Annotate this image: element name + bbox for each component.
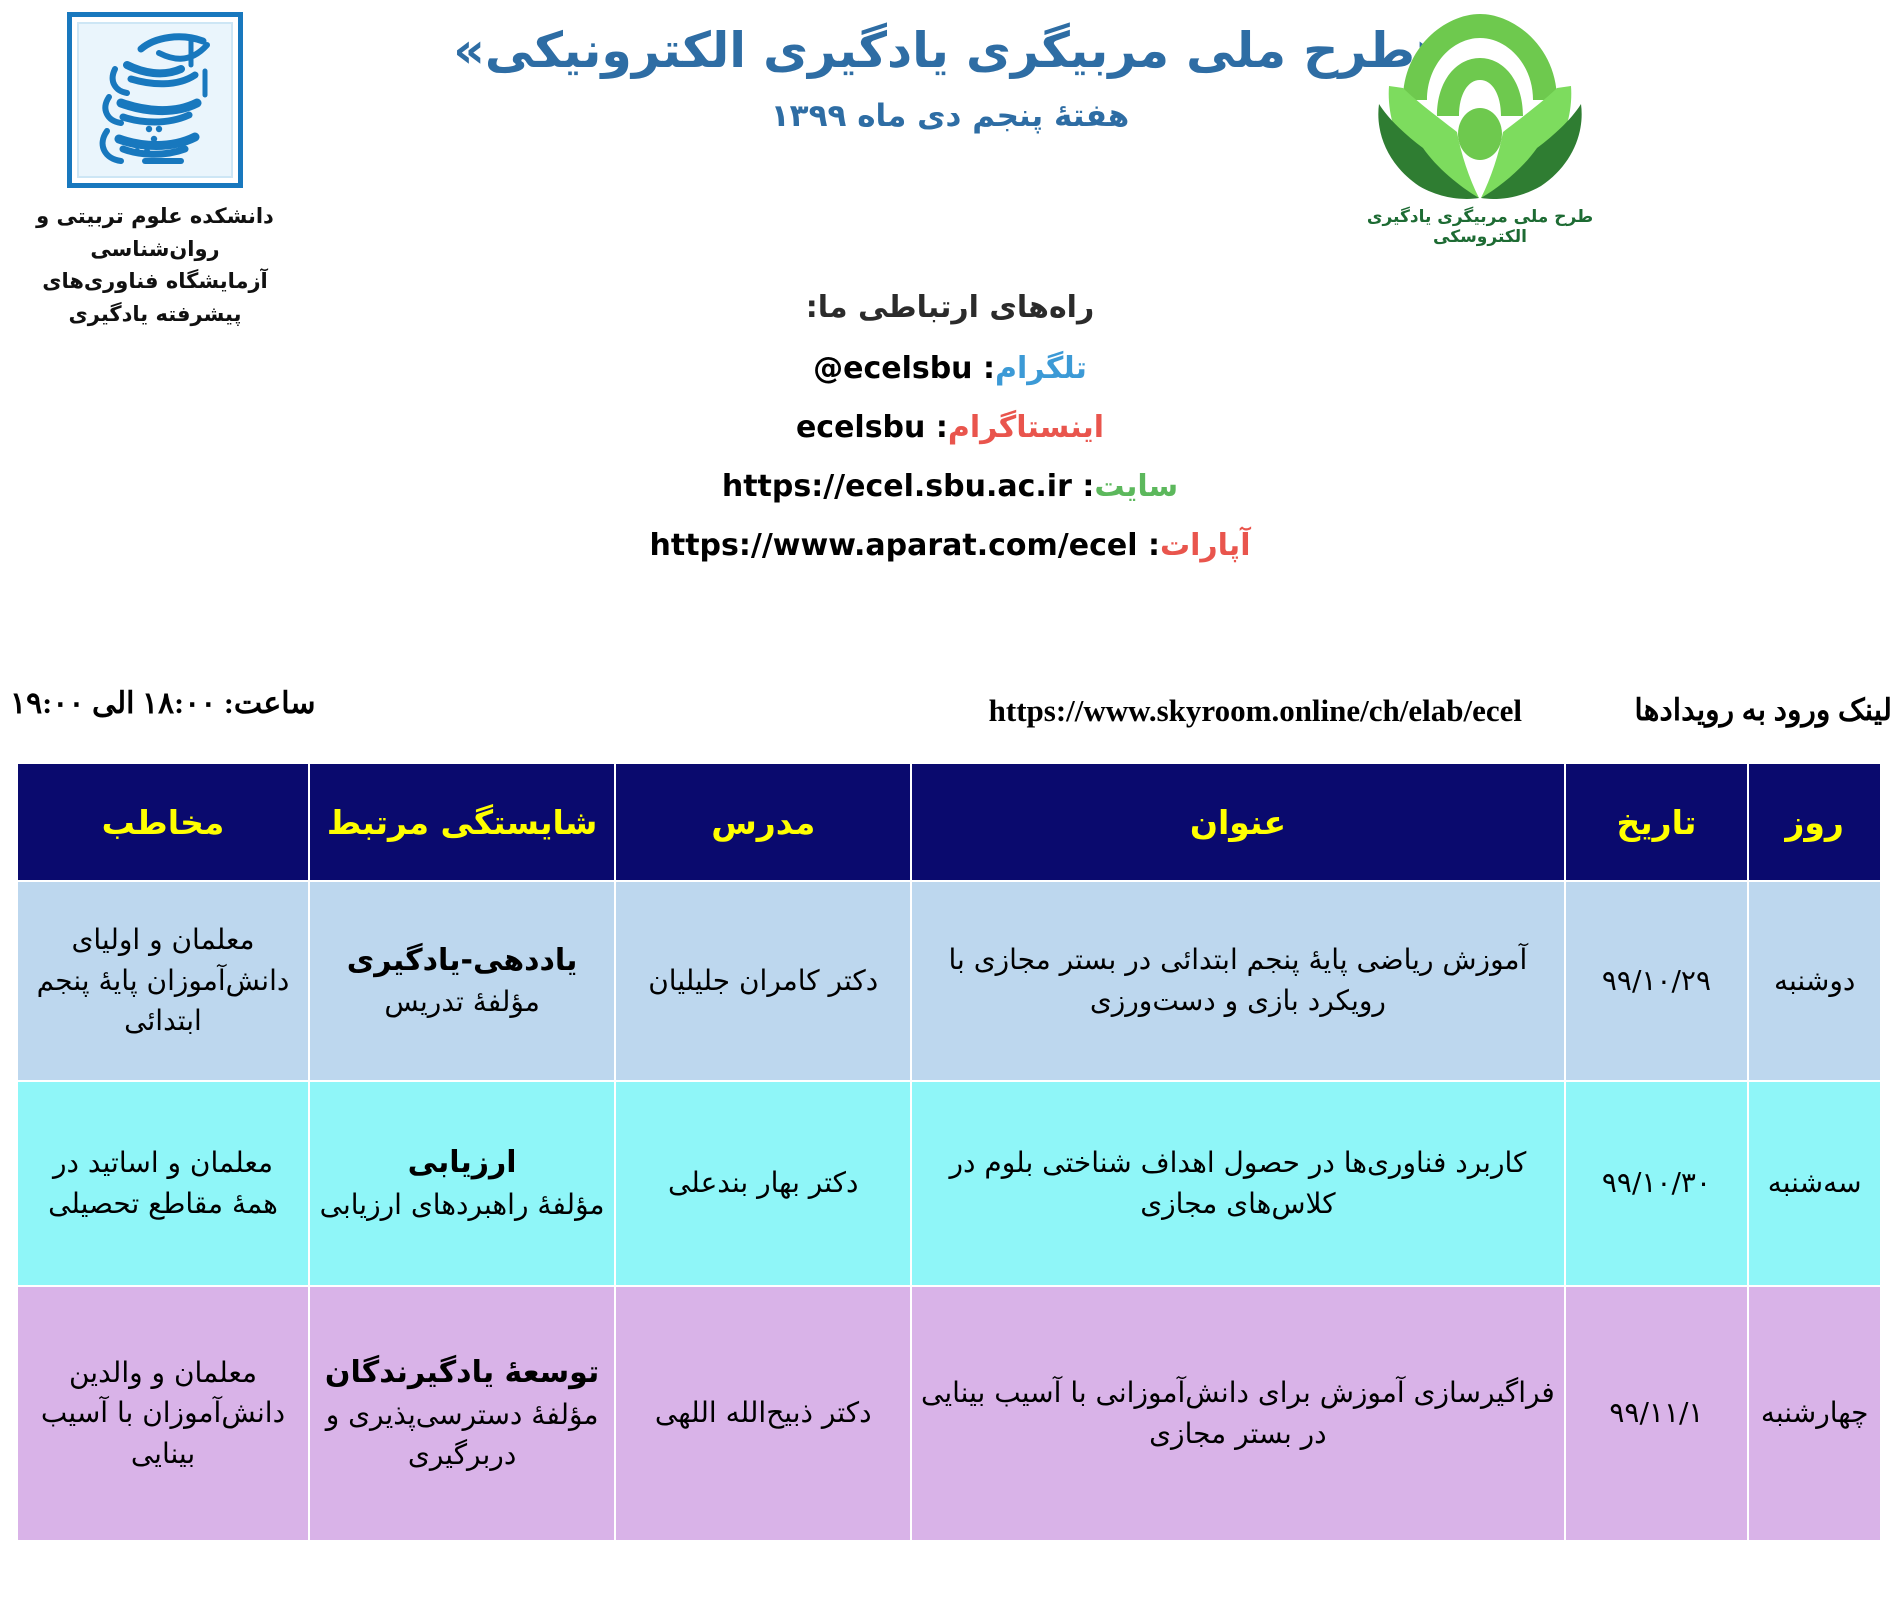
event-time-text: ساعت: ۱۸:۰۰ الی ۱۹:۰۰ [10, 687, 316, 722]
competency-sub: مؤلفهٔ تدریس [318, 982, 606, 1023]
cell-date: ۹۹/۱۱/۱ [1565, 1286, 1749, 1541]
column-header-date: تاریخ [1565, 763, 1749, 881]
contacts-block: راه‌های ارتباطی ما: تلگرام: @ecelsbu این… [0, 290, 1900, 587]
column-header-day: روز [1748, 763, 1881, 881]
competency-main: ارزیابی [318, 1141, 606, 1185]
column-header-teacher: مدرس [615, 763, 911, 881]
contact-label-site: سایت [1094, 469, 1178, 504]
competency-main: یاددهی-یادگیری [318, 939, 606, 983]
cell-competency: یاددهی-یادگیری مؤلفهٔ تدریس [309, 881, 615, 1081]
schedule-table: روز تاریخ عنوان مدرس شایستگی مرتبط مخاطب… [16, 762, 1882, 1542]
event-link-url[interactable]: https://www.skyroom.online/ch/elab/ecel [989, 693, 1522, 729]
event-link-label: لینک ورود به رویدادها [1634, 693, 1892, 728]
table-header-row: روز تاریخ عنوان مدرس شایستگی مرتبط مخاطب [17, 763, 1881, 881]
table-row: دوشنبه ۹۹/۱۰/۲۹ آموزش ریاضی پایهٔ پنجم ا… [17, 881, 1881, 1081]
contact-row-telegram: تلگرام: @ecelsbu [0, 351, 1900, 386]
competency-main: توسعهٔ یادگیرندگان [318, 1351, 606, 1395]
cell-audience: معلمان و اساتید در همهٔ مقاطع تحصیلی [17, 1081, 309, 1286]
event-link-bar: لینک ورود به رویدادها https://www.skyroo… [0, 693, 1900, 755]
contact-label-aparat: آپارات [1160, 528, 1251, 563]
contact-label-instagram: اینستاگرام [948, 410, 1104, 445]
ecel-hands-wifi-logo-icon [1365, 8, 1595, 203]
cell-day: دوشنبه [1748, 881, 1881, 1081]
table-row: سه‌شنبه ۹۹/۱۰/۳۰ کاربرد فناوری‌ها در حصو… [17, 1081, 1881, 1286]
contact-colon: : [1138, 528, 1160, 563]
ecel-logo-block: طرح ملی مربیگری یادگیری الکتروسکی [1330, 8, 1630, 247]
column-header-title: عنوان [911, 763, 1564, 881]
ecel-logo-caption: طرح ملی مربیگری یادگیری الکتروسکی [1330, 207, 1630, 247]
contact-label-telegram: تلگرام [995, 351, 1087, 386]
column-header-competency: شایستگی مرتبط [309, 763, 615, 881]
contact-value-telegram[interactable]: @ecelsbu [813, 351, 972, 386]
competency-sub: مؤلفهٔ راهبردهای ارزیابی [318, 1185, 606, 1226]
contact-value-aparat[interactable]: https://www.aparat.com/ecel [650, 528, 1138, 563]
cell-day: سه‌شنبه [1748, 1081, 1881, 1286]
contact-row-site: سایت: https://ecel.sbu.ac.ir [0, 469, 1900, 504]
contact-row-aparat: آپارات: https://www.aparat.com/ecel [0, 528, 1900, 563]
cell-title: آموزش ریاضی پایهٔ پنجم ابتدائی در بستر م… [911, 881, 1564, 1081]
cell-title: کاربرد فناوری‌ها در حصول اهداف شناختی بل… [911, 1081, 1564, 1286]
cell-teacher: دکتر ذبیح‌الله اللهی [615, 1286, 911, 1541]
sbu-caption-line1: دانشکده علوم تربیتی و روان‌شناسی [5, 200, 305, 265]
cell-audience: معلمان و اولیای دانش‌آموزان پایهٔ پنجم ا… [17, 881, 309, 1081]
cell-day: چهارشنبه [1748, 1286, 1881, 1541]
contact-colon: : [1072, 469, 1094, 504]
table-row: چهارشنبه ۹۹/۱۱/۱ فراگیرسازی آموزش برای د… [17, 1286, 1881, 1541]
competency-sub: مؤلفهٔ دسترسی‌پذیری و دربرگیری [318, 1395, 606, 1476]
cell-competency: ارزیابی مؤلفهٔ راهبردهای ارزیابی [309, 1081, 615, 1286]
cell-date: ۹۹/۱۰/۳۰ [1565, 1081, 1749, 1286]
cell-audience: معلمان و والدین دانش‌آموزان با آسیب بینا… [17, 1286, 309, 1541]
cell-teacher: دکتر بهار بندعلی [615, 1081, 911, 1286]
cell-title: فراگیرسازی آموزش برای دانش‌آموزانی با آس… [911, 1286, 1564, 1541]
contact-colon: : [973, 351, 995, 386]
poster-header: دانشکده علوم تربیتی و روان‌شناسی آزمایشگ… [0, 0, 1900, 300]
contact-value-instagram[interactable]: ecelsbu [796, 410, 925, 445]
contact-colon: : [925, 410, 947, 445]
cell-competency: توسعهٔ یادگیرندگان مؤلفهٔ دسترسی‌پذیری و… [309, 1286, 615, 1541]
contacts-title: راه‌های ارتباطی ما: [0, 290, 1900, 325]
contact-row-instagram: اینستاگرام: ecelsbu [0, 410, 1900, 445]
cell-date: ۹۹/۱۰/۲۹ [1565, 881, 1749, 1081]
column-header-audience: مخاطب [17, 763, 309, 881]
cell-teacher: دکتر کامران جلیلیان [615, 881, 911, 1081]
contact-value-site[interactable]: https://ecel.sbu.ac.ir [722, 469, 1072, 504]
